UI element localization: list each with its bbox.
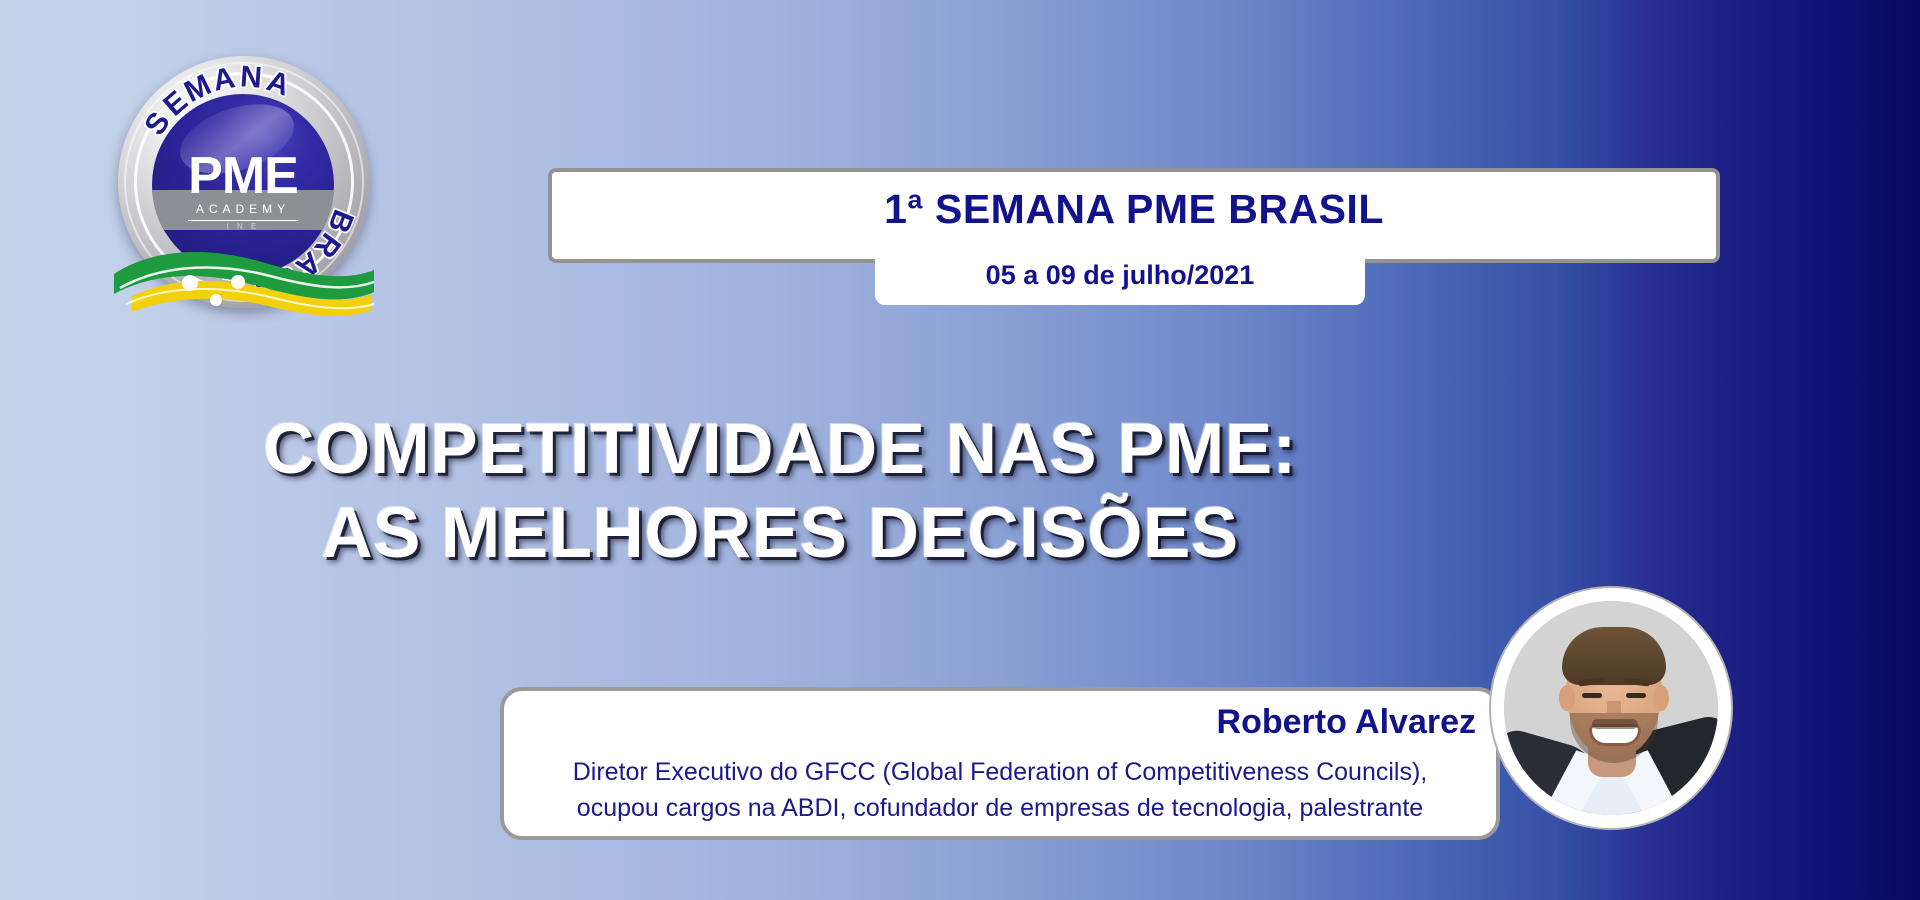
speaker-description-line-2: ocupou cargos na ABDI, cofundador de emp… [526, 790, 1474, 826]
speaker-photo-frame [1491, 588, 1731, 828]
headline-line-1: COMPETITIVIDADE NAS PME: [0, 408, 1560, 492]
semana-pme-brasil-logo: PME ACADEMY I N E SEMANA BRASIL [104, 48, 386, 320]
event-headline: COMPETITIVIDADE NAS PME: AS MELHORES DEC… [0, 408, 1560, 576]
logo-arc-text-brasil: BRASIL [104, 48, 386, 320]
photo-moustache [1592, 719, 1638, 729]
speaker-name: Roberto Alvarez [1217, 703, 1476, 742]
avatar [1504, 601, 1718, 815]
headline-line-2: AS MELHORES DECISÕES [0, 492, 1560, 576]
photo-ear-left [1559, 685, 1575, 711]
event-date-tab: 05 a 09 de julho/2021 [875, 255, 1365, 305]
speaker-description: Diretor Executivo do GFCC (Global Federa… [526, 754, 1474, 826]
photo-eye-right [1626, 693, 1646, 698]
speaker-description-line-1: Diretor Executivo do GFCC (Global Federa… [526, 754, 1474, 790]
event-date-text: 05 a 09 de julho/2021 [875, 260, 1365, 291]
photo-nose [1607, 701, 1621, 721]
photo-eye-left [1582, 693, 1602, 698]
photo-ear-right [1653, 685, 1669, 711]
photo-mouth [1592, 727, 1638, 743]
event-promo-banner: PME ACADEMY I N E SEMANA BRASIL 1ª SEMAN… [0, 0, 1920, 900]
photo-hair [1562, 627, 1666, 685]
event-title-box: 1ª SEMANA PME BRASIL [548, 168, 1720, 263]
page-title: 1ª SEMANA PME BRASIL [552, 186, 1716, 233]
speaker-info-box: Roberto Alvarez Diretor Executivo do GFC… [500, 687, 1500, 840]
